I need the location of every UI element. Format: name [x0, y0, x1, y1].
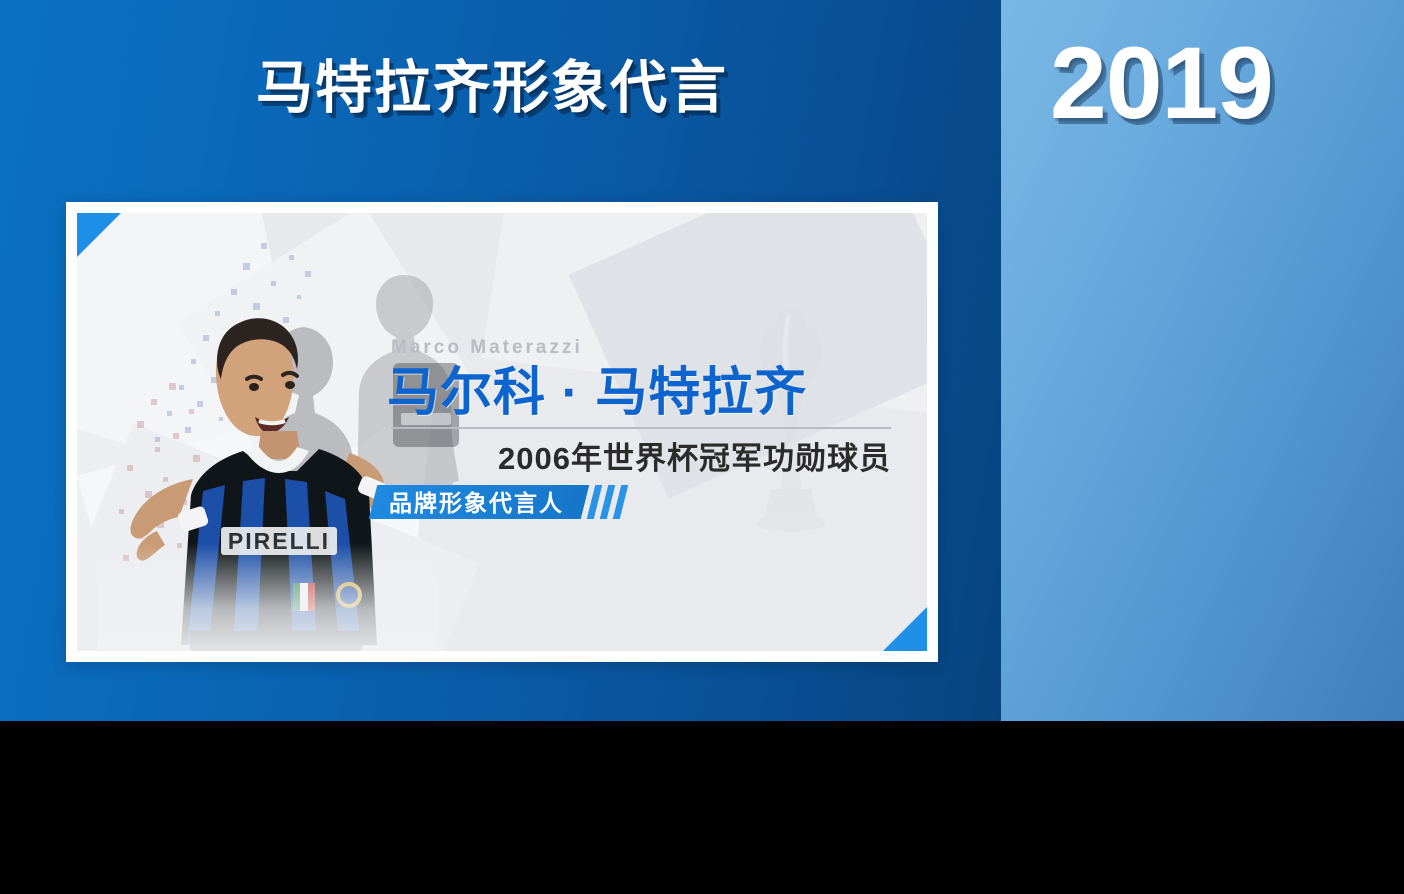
tag-slashes-decoration — [589, 485, 637, 519]
promo-banner: PIRELLI — [77, 213, 927, 651]
page-title: 马特拉齐形象代言 — [256, 60, 728, 117]
banner-subtitle: 2006年世界杯冠军功勋球员 — [387, 433, 897, 478]
latin-name: Marco Materazzi — [387, 337, 897, 359]
promo-banner-frame: PIRELLI — [66, 202, 938, 662]
player-photo-fade — [97, 543, 437, 651]
corner-accent-top-left-icon — [77, 213, 121, 257]
presentation-slide: 马特拉齐形象代言 2019 — [0, 0, 1404, 894]
corner-accent-bottom-right-icon — [883, 607, 927, 651]
endorsement-tag: 品牌形象代言人 — [373, 485, 623, 521]
banner-text-block: Marco Materazzi 马尔科 · 马特拉齐 2006年世界杯冠军功勋球… — [387, 337, 897, 478]
year-label: 2019 — [1050, 32, 1273, 134]
bottom-black-bar — [0, 721, 1404, 894]
divider-rule — [391, 427, 891, 429]
chinese-name: 马尔科 · 马特拉齐 — [387, 365, 897, 421]
slide-stage: 马特拉齐形象代言 2019 — [0, 0, 1404, 721]
tag-label: 品牌形象代言人 — [389, 488, 589, 518]
